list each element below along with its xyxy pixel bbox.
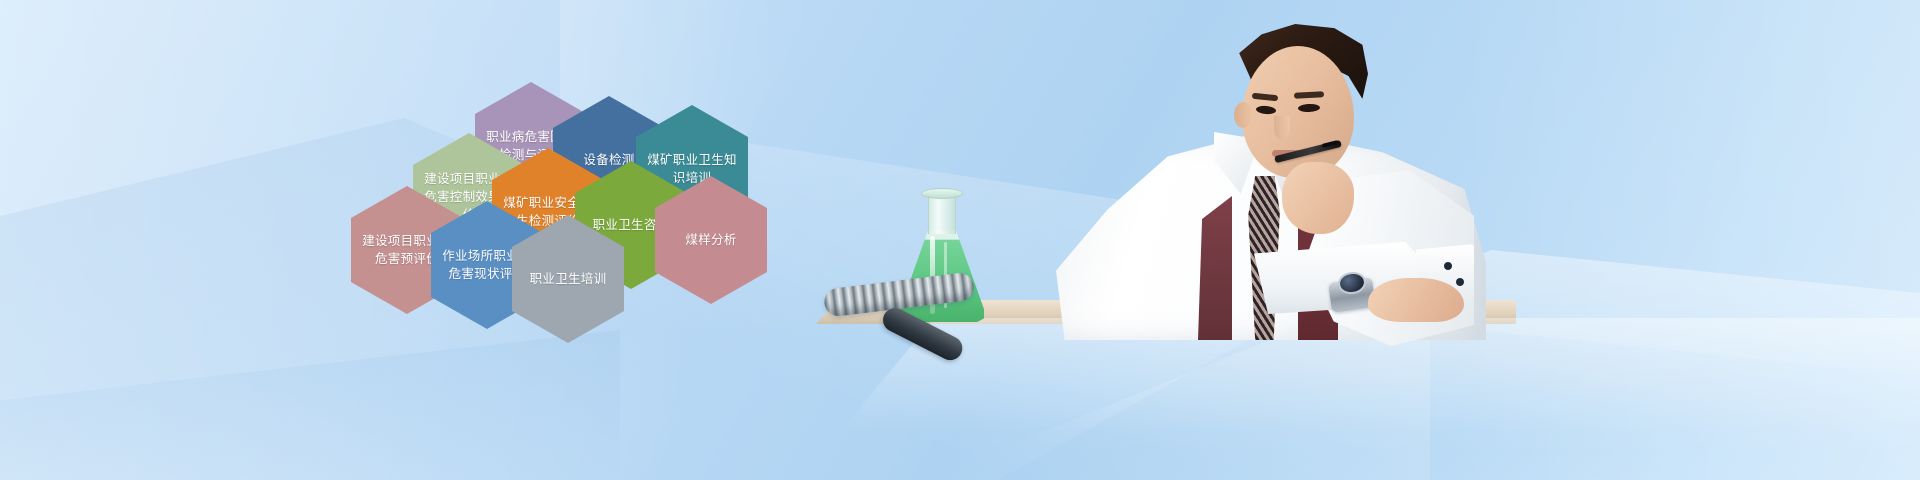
cuff-button-top: [1444, 262, 1452, 270]
banner-stage: 职业病危害因素检测与评价设备检测煤矿职业卫生知识培训建设项目职业病危害控制效果评…: [0, 0, 1920, 480]
hexagon-label: 煤样分析: [677, 231, 744, 249]
nose: [1274, 116, 1290, 140]
desk-light-reflection: [800, 318, 1920, 480]
laboratory-scene: [800, 0, 1920, 480]
flask-lip: [921, 188, 963, 199]
scientist-person: [1046, 10, 1506, 340]
service-hexagon-cluster: 职业病危害因素检测与评价设备检测煤矿职业卫生知识培训建设项目职业病危害控制效果评…: [0, 0, 780, 360]
hand-at-chin: [1282, 162, 1354, 234]
hexagon-label: 职业卫生培训: [522, 270, 615, 288]
ear: [1234, 102, 1252, 128]
cuff-button-bottom: [1456, 278, 1464, 286]
hand-resting-on-desk: [1368, 278, 1464, 322]
